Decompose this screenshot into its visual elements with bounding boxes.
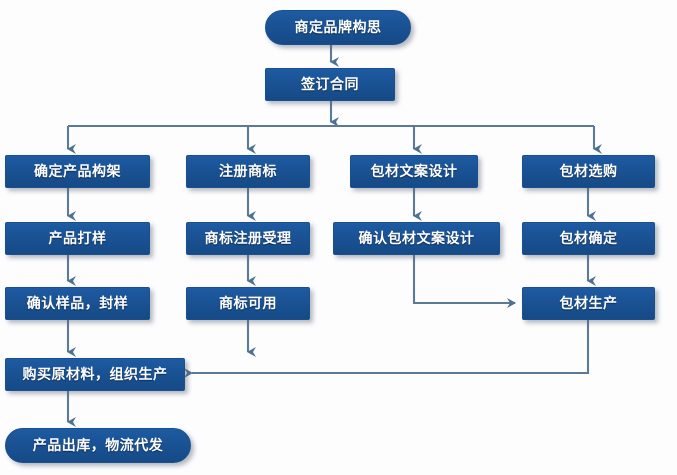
node-label-buy_materials: 购买原材料，组织生产 [23, 368, 168, 382]
node-sign_contract[interactable]: 签订合同 [265, 68, 395, 101]
node-label-product_sample: 产品打样 [49, 232, 107, 246]
node-buy_materials[interactable]: 购买原材料，组织生产 [5, 358, 185, 391]
node-label-tm_available: 商标可用 [219, 297, 277, 311]
edge-pkg-production-feedback [192, 320, 588, 373]
node-label-pkg_purchase: 包材选购 [560, 165, 618, 179]
node-register_tm[interactable]: 注册商标 [186, 155, 310, 188]
node-sample_sealed[interactable]: 确认样品，封样 [5, 287, 150, 320]
node-pkg_purchase[interactable]: 包材选购 [522, 155, 655, 188]
node-ship_out[interactable]: 产品出库，物流代发 [5, 428, 191, 463]
node-brand_concept[interactable]: 商定品牌构思 [265, 10, 411, 45]
node-label-product_frame: 确定产品构架 [34, 165, 121, 179]
node-label-ship_out: 产品出库，物流代发 [33, 439, 164, 453]
node-product_frame[interactable]: 确定产品构架 [5, 155, 150, 188]
node-label-sign_contract: 签订合同 [301, 78, 359, 92]
node-label-tm_accepted: 商标注册受理 [205, 232, 292, 246]
node-tm_available[interactable]: 商标可用 [186, 287, 310, 320]
node-label-pkg_copy_confirm: 确认包材文案设计 [359, 232, 475, 246]
node-tm_accepted[interactable]: 商标注册受理 [186, 222, 310, 255]
node-product_sample[interactable]: 产品打样 [5, 222, 150, 255]
flowchart-canvas: 商定品牌构思签订合同确定产品构架注册商标包材文案设计包材选购产品打样商标注册受理… [0, 0, 677, 475]
node-pkg_copy_confirm[interactable]: 确认包材文案设计 [333, 222, 500, 255]
node-label-register_tm: 注册商标 [219, 165, 277, 179]
node-pkg_confirmed[interactable]: 包材确定 [522, 222, 655, 255]
edge-copy-confirm-to-pkg-production [414, 255, 515, 303]
node-label-pkg_confirmed: 包材确定 [560, 232, 618, 246]
node-label-brand_concept: 商定品牌构思 [295, 21, 382, 35]
node-label-pkg_production: 包材生产 [560, 297, 618, 311]
node-pkg_copy_design[interactable]: 包材文案设计 [350, 155, 478, 188]
node-label-pkg_copy_design: 包材文案设计 [371, 165, 458, 179]
node-label-sample_sealed: 确认样品，封样 [27, 297, 129, 311]
node-pkg_production[interactable]: 包材生产 [522, 287, 655, 320]
